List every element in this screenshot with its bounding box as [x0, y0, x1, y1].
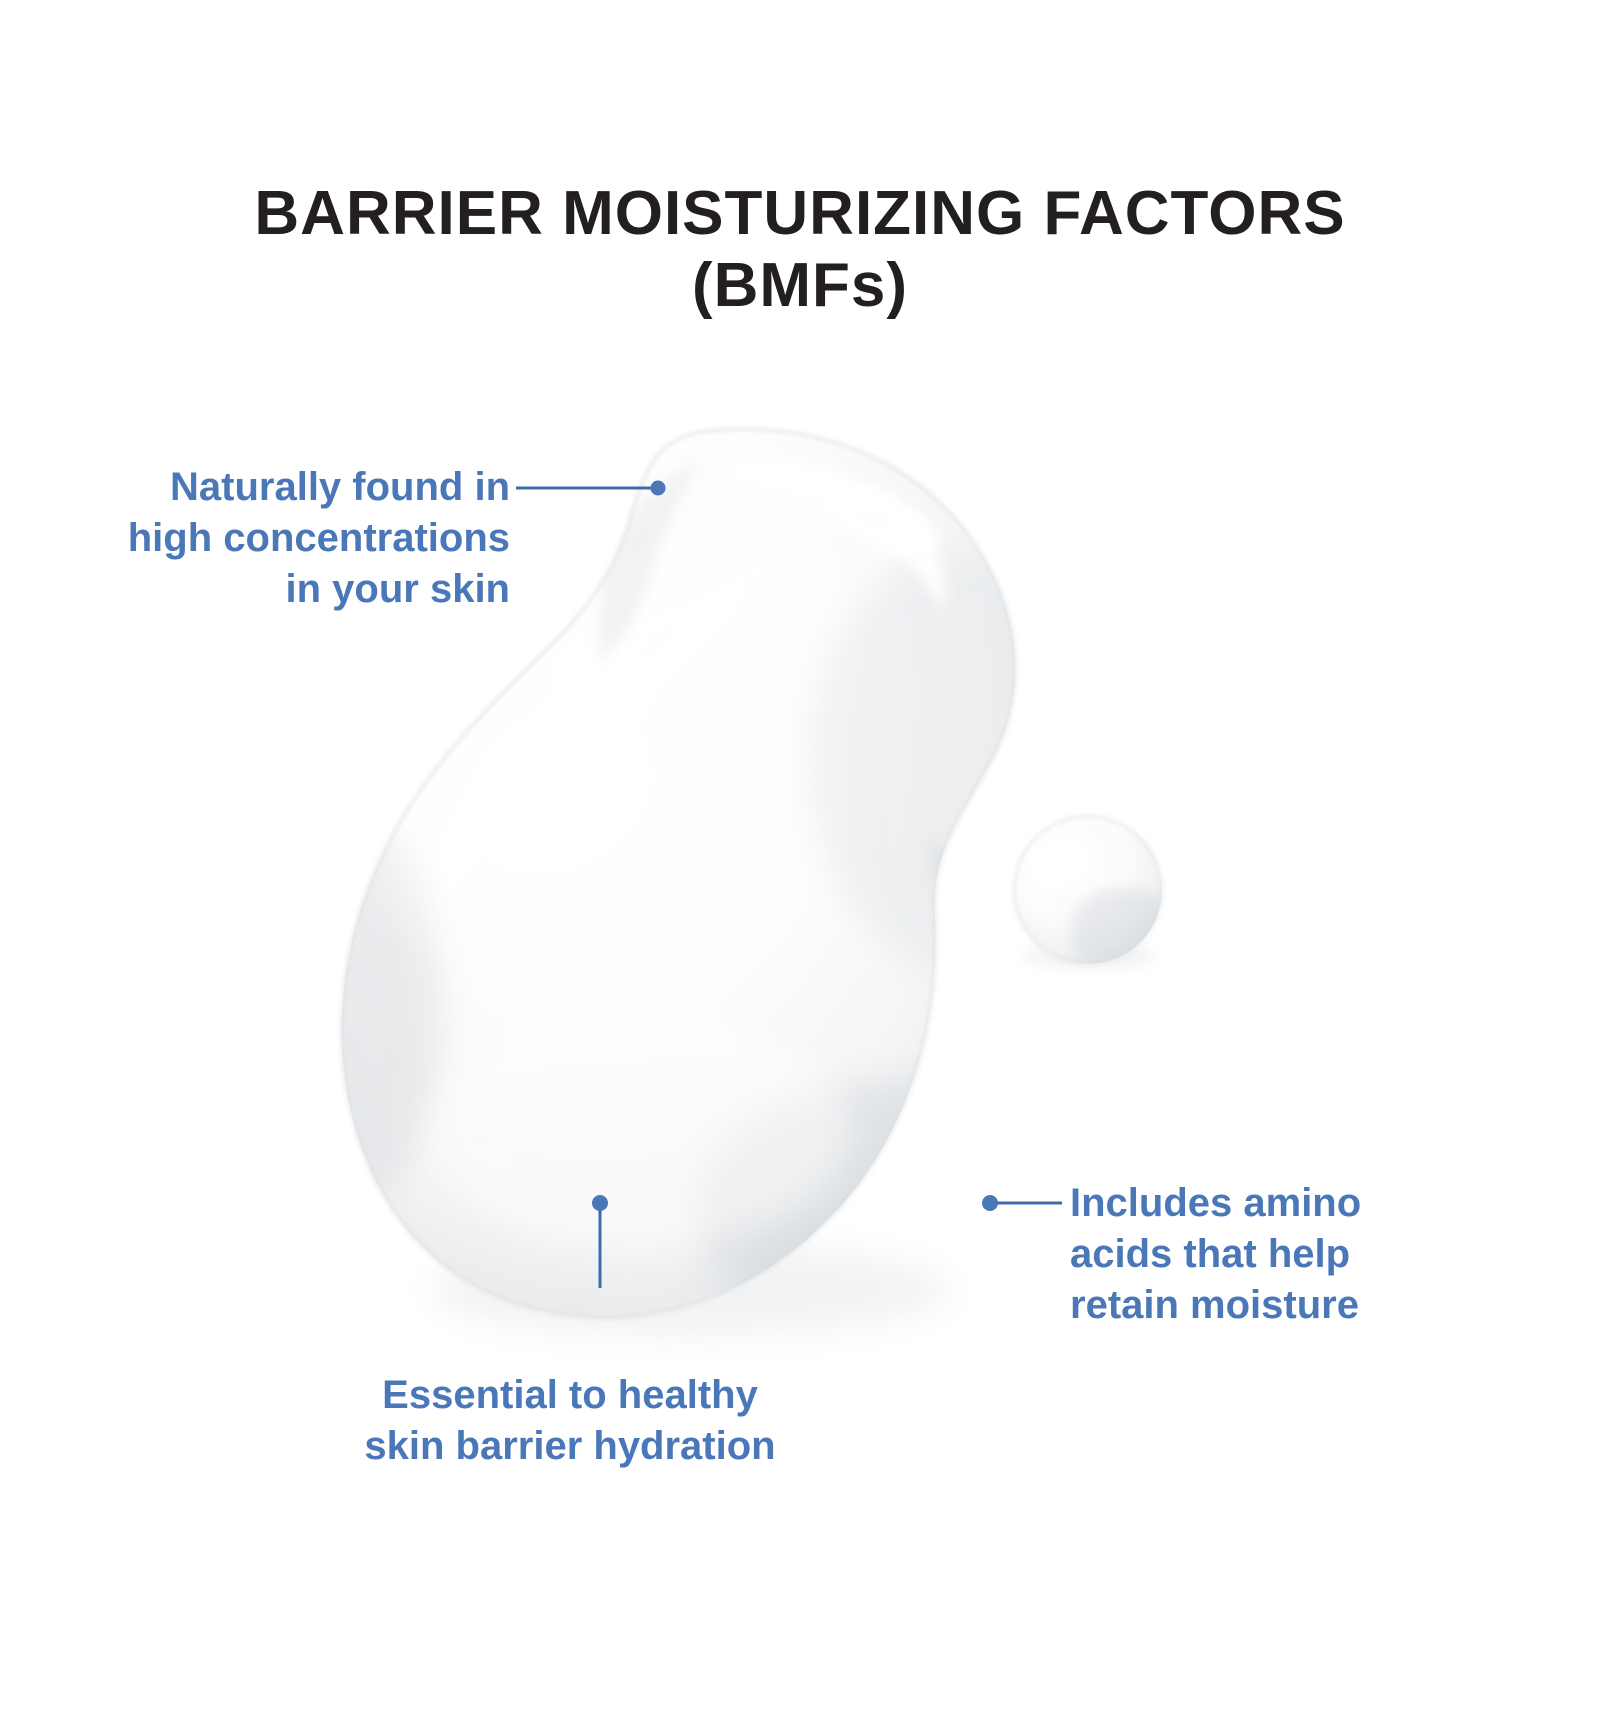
infographic-root: BARRIER MOISTURIZING FACTORS (BMFs) [0, 0, 1600, 1710]
leader-dot [592, 1195, 608, 1211]
annotation-includes-amino-acids: Includes amino acids that help retain mo… [1070, 1178, 1490, 1332]
leader-naturally-found [516, 481, 666, 496]
leader-dot [982, 1195, 998, 1211]
leader-includes-amino-acids [982, 1195, 1062, 1211]
annotation-naturally-found: Naturally found in high concentrations i… [60, 462, 510, 616]
annotation-essential-hydration: Essential to healthy skin barrier hydrat… [330, 1370, 810, 1472]
leader-essential-hydration [592, 1195, 608, 1288]
leader-dot [651, 481, 666, 496]
